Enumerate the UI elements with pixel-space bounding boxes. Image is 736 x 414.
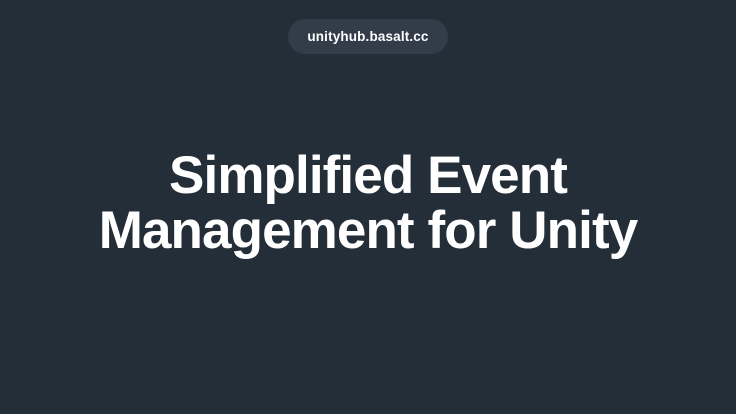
hero-section: Simplified Event Management for Unity bbox=[0, 148, 736, 258]
url-pill[interactable]: unityhub.basalt.cc bbox=[288, 19, 447, 54]
page-title-line-2: Management for Unity bbox=[99, 203, 638, 258]
page-title-line-1: Simplified Event bbox=[99, 148, 638, 203]
page-title: Simplified Event Management for Unity bbox=[99, 148, 638, 258]
page-root: unityhub.basalt.cc Simplified Event Mana… bbox=[0, 0, 736, 414]
url-bar: unityhub.basalt.cc bbox=[0, 19, 736, 54]
url-domain-text: unityhub.basalt.cc bbox=[307, 30, 428, 44]
